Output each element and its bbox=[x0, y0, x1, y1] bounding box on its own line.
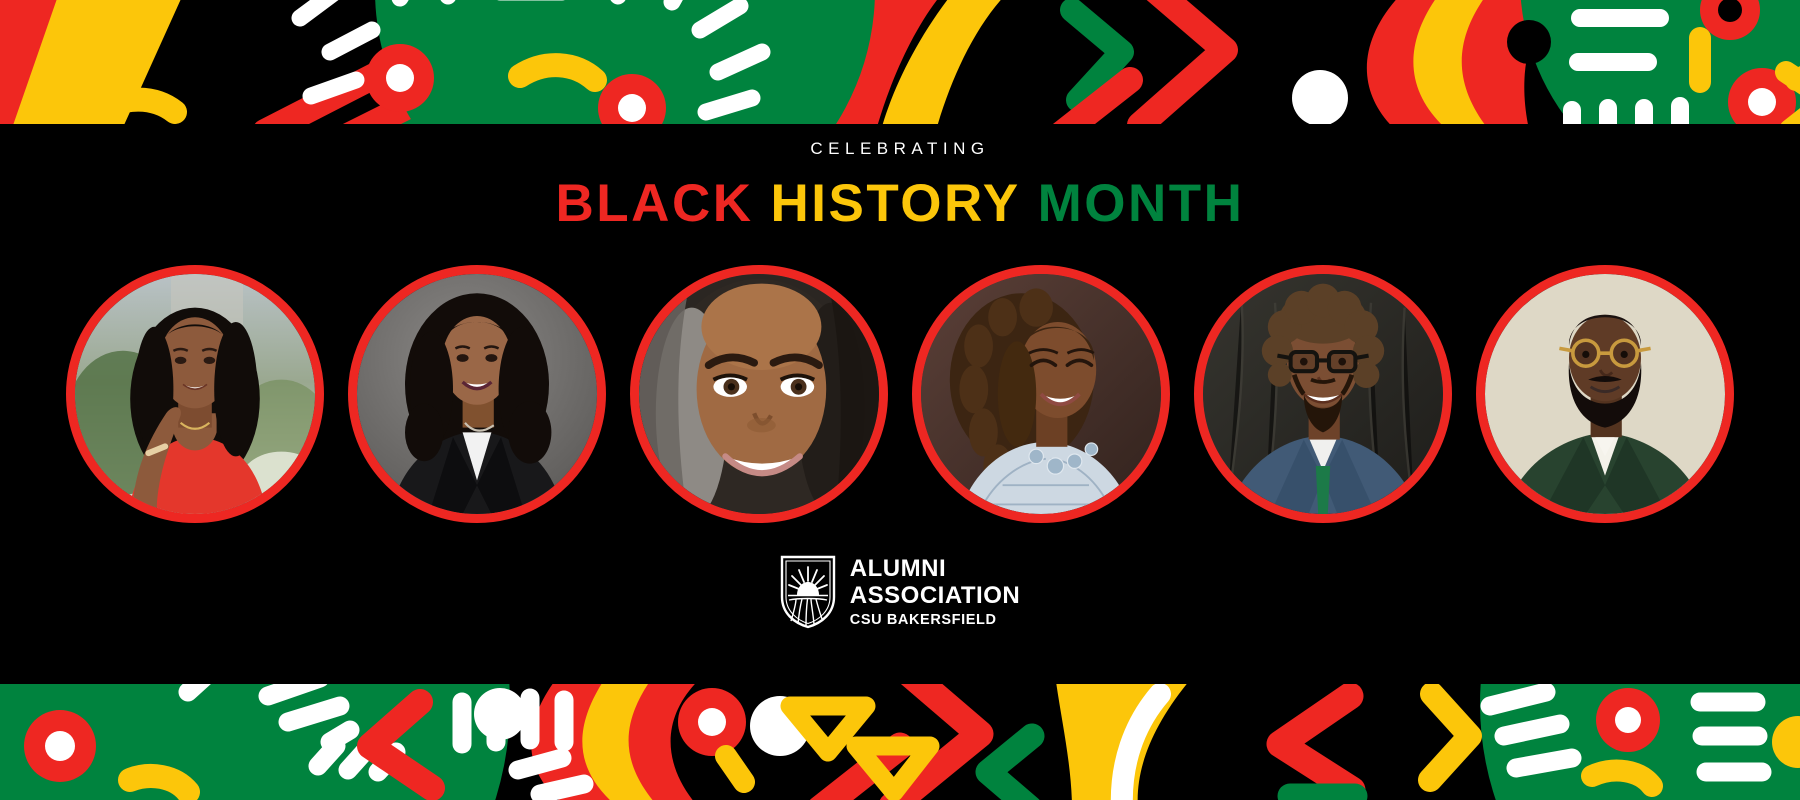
logo-line-alumni: ALUMNI bbox=[850, 557, 1020, 581]
title-word-month: MONTH bbox=[1038, 177, 1245, 230]
logo-line-campus: CSU BAKERSFIELD bbox=[850, 613, 1020, 628]
decorative-pattern-bottom bbox=[0, 684, 1800, 800]
logo-line-association: ASSOCIATION bbox=[850, 584, 1020, 608]
portrait-4 bbox=[912, 265, 1170, 523]
portrait-5-photo bbox=[1203, 274, 1443, 514]
headline-block: CELEBRATING BLACKHISTORYMONTH bbox=[0, 140, 1800, 230]
portrait-2 bbox=[348, 265, 606, 523]
portrait-2-photo bbox=[357, 274, 597, 514]
portrait-5 bbox=[1194, 265, 1452, 523]
portrait-6 bbox=[1476, 265, 1734, 523]
eyebrow-text: CELEBRATING bbox=[0, 140, 1800, 157]
title-word-history: HISTORY bbox=[771, 177, 1021, 230]
portrait-1 bbox=[66, 265, 324, 523]
page-title: BLACKHISTORYMONTH bbox=[0, 177, 1800, 230]
black-history-month-banner: CELEBRATING BLACKHISTORYMONTH bbox=[0, 0, 1800, 800]
portrait-1-photo bbox=[75, 274, 315, 514]
portrait-6-photo bbox=[1485, 274, 1725, 514]
honoree-portrait-row bbox=[0, 265, 1800, 523]
logo-wordmark: ALUMNI ASSOCIATION CSU BAKERSFIELD bbox=[850, 557, 1020, 628]
title-word-black: BLACK bbox=[556, 177, 754, 230]
decorative-pattern-top bbox=[0, 0, 1800, 124]
logo-lockup: ALUMNI ASSOCIATION CSU BAKERSFIELD bbox=[0, 555, 1800, 629]
shield-sunburst-icon bbox=[780, 555, 836, 629]
portrait-3-photo bbox=[639, 274, 879, 514]
portrait-4-photo bbox=[921, 274, 1161, 514]
portrait-3 bbox=[630, 265, 888, 523]
